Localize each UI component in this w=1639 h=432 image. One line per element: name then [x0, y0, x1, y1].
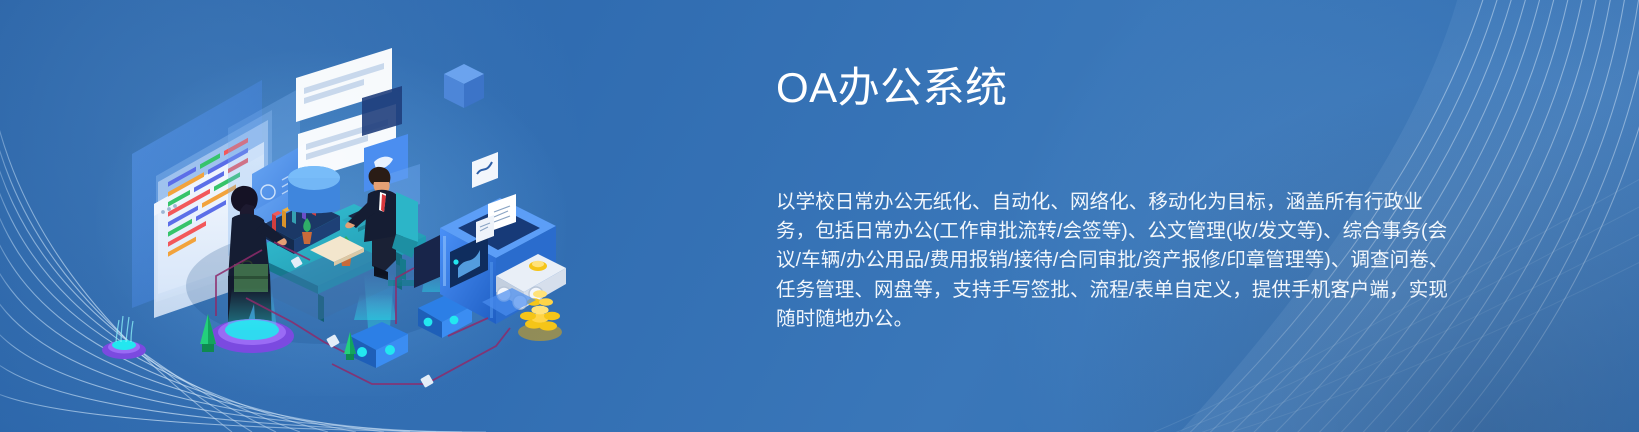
banner-copy: OA办公系统 以学校日常办公无纸化、自动化、网络化、移动化为目标，涵盖所有行政业… — [776, 62, 1466, 334]
isometric-office-illustration — [96, 36, 566, 396]
page-description: 以学校日常办公无纸化、自动化、网络化、移动化为目标，涵盖所有行政业务，包括日常办… — [776, 188, 1460, 334]
oa-system-banner: OA办公系统 以学校日常办公无纸化、自动化、网络化、移动化为目标，涵盖所有行政业… — [0, 0, 1639, 432]
briefcase — [234, 261, 268, 292]
page-title: OA办公系统 — [776, 62, 1466, 114]
paper-bin — [288, 166, 340, 213]
